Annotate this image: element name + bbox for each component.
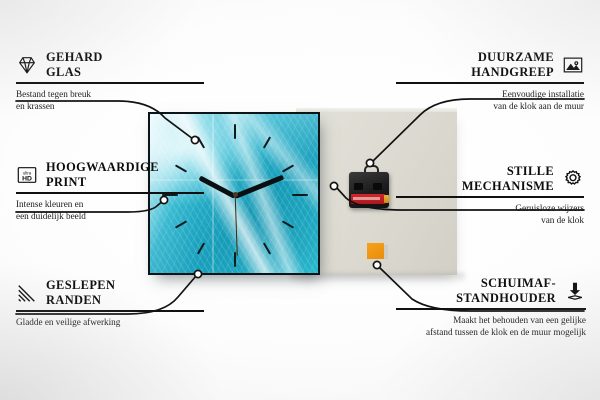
feature-title-line2: STANDHOUDER <box>456 291 556 305</box>
feature-description: Geruisloze wijzers van de klok <box>396 202 584 226</box>
feature-description: Maakt het behouden van een gelijke afsta… <box>396 314 586 338</box>
feature-desc-line2: en krassen <box>16 101 55 111</box>
feature-divider <box>16 192 204 193</box>
feature-title-line2: RANDEN <box>46 293 101 307</box>
feature-hoogwaardige-print: ultra HD HOOGWAARDIGE PRINT Intense kleu… <box>16 160 204 222</box>
feature-header: GEHARD GLAS <box>16 50 204 79</box>
feature-description: Gladde en veilige afwerking <box>16 316 204 328</box>
feature-schuimafstandhouder: SCHUIMAF- STANDHOUDER Maakt het behouden… <box>396 276 586 338</box>
feature-gehard-glas: GEHARD GLAS Bestand tegen breuk en krass… <box>16 50 204 112</box>
feature-title-line1: GESLEPEN <box>46 278 115 292</box>
feature-title: STILLE MECHANISME <box>462 164 554 193</box>
connector-dot-duurzame-handgreep <box>366 159 373 166</box>
feature-title-line2: MECHANISME <box>462 179 554 193</box>
feature-title: SCHUIMAF- STANDHOUDER <box>456 276 556 305</box>
feature-desc-line1: Maakt het behouden van een gelijke <box>453 315 586 325</box>
feature-title-line1: DUURZAME <box>478 50 554 64</box>
feature-desc-line2: van de klok aan de muur <box>493 101 584 111</box>
feature-divider <box>396 308 586 309</box>
connector-dot-schuimafstandhouder <box>373 261 380 268</box>
connector-dot-geslepen-randen <box>194 270 201 277</box>
feature-title-line1: STILLE <box>507 164 554 178</box>
feature-description: Intense kleuren en een duidelijk beeld <box>16 198 204 222</box>
feature-title-line2: GLAS <box>46 65 81 79</box>
bevelled-edge-icon <box>16 282 38 304</box>
ultra-hd-icon: ultra HD <box>16 164 38 186</box>
feature-desc-line1: Eenvoudige installatie <box>502 89 584 99</box>
feature-title: DUURZAME HANDGREEP <box>471 50 554 79</box>
gear-icon <box>562 168 584 190</box>
feature-header: DUURZAME HANDGREEP <box>396 50 584 79</box>
feature-title-line2: PRINT <box>46 175 87 189</box>
down-arrow-stack-icon <box>564 280 586 302</box>
feature-desc-line1: Geruisloze wijzers <box>515 203 584 213</box>
connector-dot-stille-mechanisme <box>330 182 337 189</box>
product-infographic: GEHARD GLAS Bestand tegen breuk en krass… <box>0 0 600 400</box>
connector-dot-gehard-glas <box>191 136 198 143</box>
feature-divider <box>396 196 584 197</box>
feature-geslepen-randen: GESLEPEN RANDEN Gladde en veilige afwerk… <box>16 278 204 328</box>
feature-duurzame-handgreep: DUURZAME HANDGREEP Eenvoudige installati… <box>396 50 584 112</box>
feature-title-line2: HANDGREEP <box>471 65 554 79</box>
feature-divider <box>16 82 204 83</box>
feature-divider <box>16 310 204 311</box>
feature-stille-mechanisme: STILLE MECHANISME Geruisloze wijzers van… <box>396 164 584 226</box>
feature-description: Bestand tegen breuk en krassen <box>16 88 204 112</box>
feature-title-line1: HOOGWAARDIGE <box>46 160 159 174</box>
feature-description: Eenvoudige installatie van de klok aan d… <box>396 88 584 112</box>
feature-header: SCHUIMAF- STANDHOUDER <box>396 276 586 305</box>
feature-desc-line1: Bestand tegen breuk <box>16 89 91 99</box>
feature-title: HOOGWAARDIGE PRINT <box>46 160 159 189</box>
feature-desc-line1: Gladde en veilige afwerking <box>16 317 120 327</box>
svg-text:HD: HD <box>22 175 32 182</box>
diamond-icon <box>16 54 38 76</box>
svg-text:ultra: ultra <box>23 170 32 175</box>
feature-desc-line1: Intense kleuren en <box>16 199 83 209</box>
feature-desc-line2: afstand tussen de klok en de muur mogeli… <box>426 327 586 337</box>
feature-title-line1: GEHARD <box>46 50 103 64</box>
feature-header: STILLE MECHANISME <box>396 164 584 193</box>
feature-header: ultra HD HOOGWAARDIGE PRINT <box>16 160 204 189</box>
framed-picture-icon <box>562 54 584 76</box>
feature-title: GEHARD GLAS <box>46 50 103 79</box>
feature-desc-line2: van de klok <box>541 215 584 225</box>
feature-title-line1: SCHUIMAF- <box>481 276 556 290</box>
feature-header: GESLEPEN RANDEN <box>16 278 204 307</box>
feature-title: GESLEPEN RANDEN <box>46 278 115 307</box>
feature-divider <box>396 82 584 83</box>
feature-desc-line2: een duidelijk beeld <box>16 211 86 221</box>
